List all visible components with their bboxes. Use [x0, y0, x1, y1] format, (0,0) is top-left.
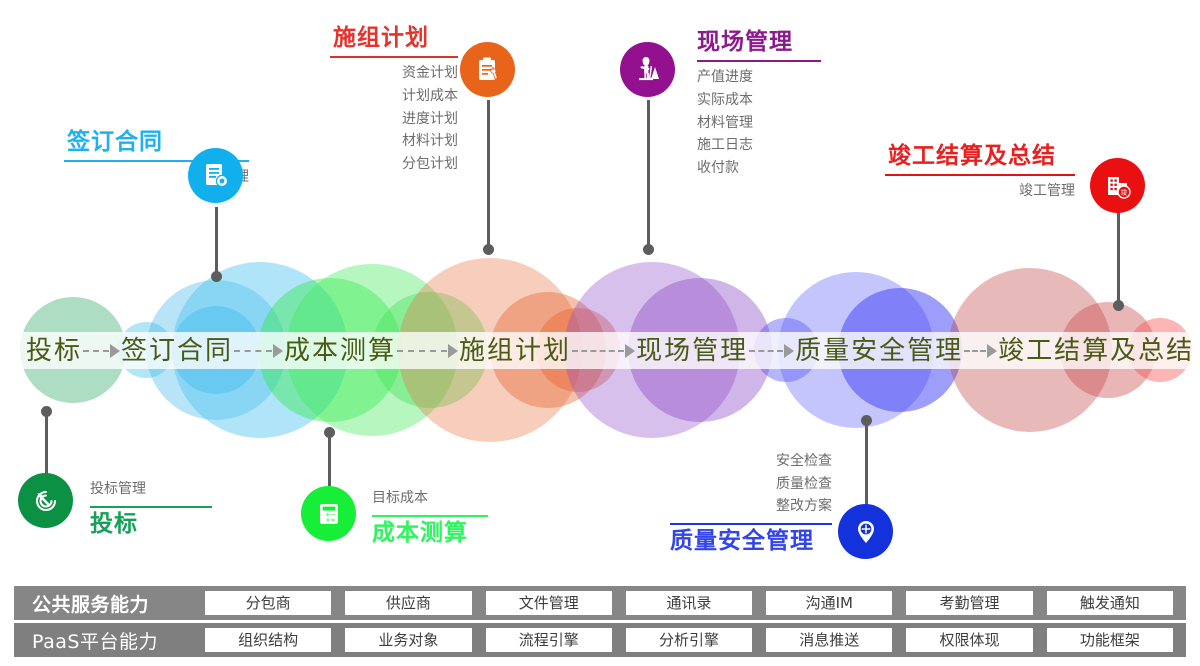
timeline-arrow-connector [83, 344, 120, 358]
dashed-line [964, 350, 986, 352]
dashed-line [83, 350, 109, 352]
leader-dot-completion [1113, 300, 1124, 311]
callout-bid-title: 投标 [90, 512, 212, 537]
timeline-stage-label[interactable]: 签订合同 [121, 338, 233, 364]
arrow-head-icon [448, 344, 458, 358]
callout-completion[interactable]: 竣工结算及总结 竣工管理 [885, 144, 1075, 203]
callout-site-title: 现场管理 [697, 30, 821, 55]
callout-plan-item-4: 分包计划 [330, 153, 458, 176]
callout-cost[interactable]: 目标成本 成本测算 [372, 487, 488, 546]
callout-cost-rule [372, 515, 488, 517]
capability-table: 公共服务能力 分包商 供应商 文件管理 通讯录 沟通IM 考勤管理 触发通知 P… [14, 586, 1186, 657]
leader-line-plan [487, 100, 490, 250]
callout-site-item-4: 收付款 [697, 157, 821, 180]
callout-quality-title: 质量安全管理 [670, 529, 832, 554]
callout-bid[interactable]: 投标管理 投标 [90, 478, 212, 537]
callout-site-item-1: 实际成本 [697, 89, 821, 112]
callout-site-item-0: 产值进度 [697, 66, 821, 89]
callout-bid-item-0: 投标管理 [90, 478, 212, 501]
svg-text:=: = [330, 517, 335, 524]
callout-bid-rule [90, 506, 212, 508]
timeline-stage-label[interactable]: 质量安全管理 [795, 338, 963, 364]
leader-line-cost [328, 432, 331, 486]
callout-plan-item-1: 计划成本 [330, 85, 458, 108]
target-arrow-icon[interactable] [18, 473, 73, 528]
callout-site-item-2: 材料管理 [697, 112, 821, 135]
callout-plan-item-0: 资金计划 [330, 62, 458, 85]
calculator-icon[interactable]: + − × = [301, 486, 356, 541]
capability-cell[interactable]: 供应商 [345, 591, 471, 615]
callout-cost-item-0: 目标成本 [372, 487, 488, 510]
callout-quality-item-0: 安全检查 [670, 450, 832, 473]
callout-site-item-3: 施工日志 [697, 134, 821, 157]
dashed-line [572, 350, 624, 352]
arrow-head-icon [625, 344, 635, 358]
contract-document-icon[interactable] [188, 148, 243, 203]
timeline-stage-label[interactable]: 现场管理 [636, 338, 748, 364]
capability-cell[interactable]: 文件管理 [486, 591, 612, 615]
dashed-line [749, 350, 783, 352]
capability-cell[interactable]: 触发通知 [1047, 591, 1173, 615]
timeline-stage-label[interactable]: 竣工结算及总结 [998, 338, 1194, 364]
callout-quality-item-1: 质量检查 [670, 473, 832, 496]
callout-bid-items: 投标管理 [90, 478, 212, 501]
dashed-line [397, 350, 447, 352]
callout-completion-title: 竣工结算及总结 [885, 144, 1075, 169]
callout-completion-rule [885, 174, 1075, 176]
capability-cell[interactable]: 分析引擎 [626, 628, 752, 652]
clipboard-wrench-icon[interactable] [460, 42, 515, 97]
safety-pin-location-icon[interactable] [838, 504, 893, 559]
capability-cell[interactable]: 组织结构 [205, 628, 331, 652]
capability-row-header: PaaS平台能力 [20, 627, 198, 654]
capability-cell[interactable]: 考勤管理 [906, 591, 1032, 615]
capability-cell[interactable]: 分包商 [205, 591, 331, 615]
capability-cell[interactable]: 功能框架 [1047, 628, 1173, 652]
capability-row-paas-platform: PaaS平台能力 组织结构 业务对象 流程引擎 分析引擎 消息推送 权限体现 功… [14, 623, 1186, 657]
infographic-canvas: 投标签订合同成本测算施组计划现场管理质量安全管理竣工结算及总结 签订合同 合同管… [0, 0, 1200, 666]
callout-site[interactable]: 现场管理 产值进度 实际成本 材料管理 施工日志 收付款 [697, 30, 821, 180]
building-completion-icon[interactable]: 竣 [1090, 158, 1145, 213]
capability-cell[interactable]: 流程引擎 [486, 628, 612, 652]
callout-cost-items: 目标成本 [372, 487, 488, 510]
arrow-head-icon [273, 344, 283, 358]
leader-dot-bid [41, 406, 52, 417]
callout-plan[interactable]: 施组计划 资金计划 计划成本 进度计划 材料计划 分包计划 [330, 26, 458, 176]
capability-cell[interactable]: 消息推送 [766, 628, 892, 652]
callout-plan-item-3: 材料计划 [330, 130, 458, 153]
callout-plan-items: 资金计划 计划成本 进度计划 材料计划 分包计划 [330, 62, 458, 175]
svg-text:竣: 竣 [1120, 187, 1127, 196]
leader-dot-quality [861, 415, 872, 426]
timeline-arrow-connector [397, 344, 458, 358]
callout-cost-title: 成本测算 [372, 521, 488, 546]
leader-line-completion [1117, 208, 1120, 306]
callout-plan-item-2: 进度计划 [330, 108, 458, 131]
callout-quality-item-2: 整改方案 [670, 495, 832, 518]
callout-site-items: 产值进度 实际成本 材料管理 施工日志 收付款 [697, 66, 821, 179]
timeline-arrow-connector [749, 344, 794, 358]
callout-quality-items: 安全检查 质量检查 整改方案 [670, 450, 832, 518]
leader-line-contract [215, 207, 218, 277]
leader-line-site [647, 100, 650, 250]
process-timeline-band: 投标签订合同成本测算施组计划现场管理质量安全管理竣工结算及总结 [0, 332, 1200, 369]
process-timeline-stages: 投标签订合同成本测算施组计划现场管理质量安全管理竣工结算及总结 [0, 338, 1200, 364]
arrow-head-icon [784, 344, 794, 358]
leader-line-quality [865, 420, 868, 505]
timeline-arrow-connector [572, 344, 635, 358]
callout-quality-rule [670, 523, 832, 525]
construction-worker-icon[interactable] [620, 42, 675, 97]
callout-completion-item-0: 竣工管理 [885, 180, 1075, 203]
capability-cell[interactable]: 业务对象 [345, 628, 471, 652]
capability-cell[interactable]: 通讯录 [626, 591, 752, 615]
dashed-line [234, 350, 272, 352]
timeline-arrow-connector [234, 344, 283, 358]
callout-completion-items: 竣工管理 [885, 180, 1075, 203]
arrow-head-icon [987, 344, 997, 358]
leader-dot-plan [483, 244, 494, 255]
callout-site-rule [697, 60, 821, 62]
callout-plan-rule [330, 56, 458, 58]
capability-row-header: 公共服务能力 [20, 590, 198, 617]
capability-cell[interactable]: 权限体现 [906, 628, 1032, 652]
leader-dot-contract [211, 271, 222, 282]
callout-plan-title: 施组计划 [330, 26, 458, 51]
timeline-arrow-connector [964, 344, 997, 358]
arrow-head-icon [110, 344, 120, 358]
leader-line-bid [45, 412, 48, 478]
callout-quality[interactable]: 安全检查 质量检查 整改方案 质量安全管理 [670, 450, 832, 554]
timeline-stage-label[interactable]: 施组计划 [459, 338, 571, 364]
leader-dot-site [643, 244, 654, 255]
capability-cell[interactable]: 沟通IM [766, 591, 892, 615]
leader-dot-cost [324, 427, 335, 438]
timeline-stage-label[interactable]: 成本测算 [284, 338, 396, 364]
timeline-stage-label[interactable]: 投标 [26, 338, 82, 364]
capability-row-public-service: 公共服务能力 分包商 供应商 文件管理 通讯录 沟通IM 考勤管理 触发通知 [14, 586, 1186, 620]
